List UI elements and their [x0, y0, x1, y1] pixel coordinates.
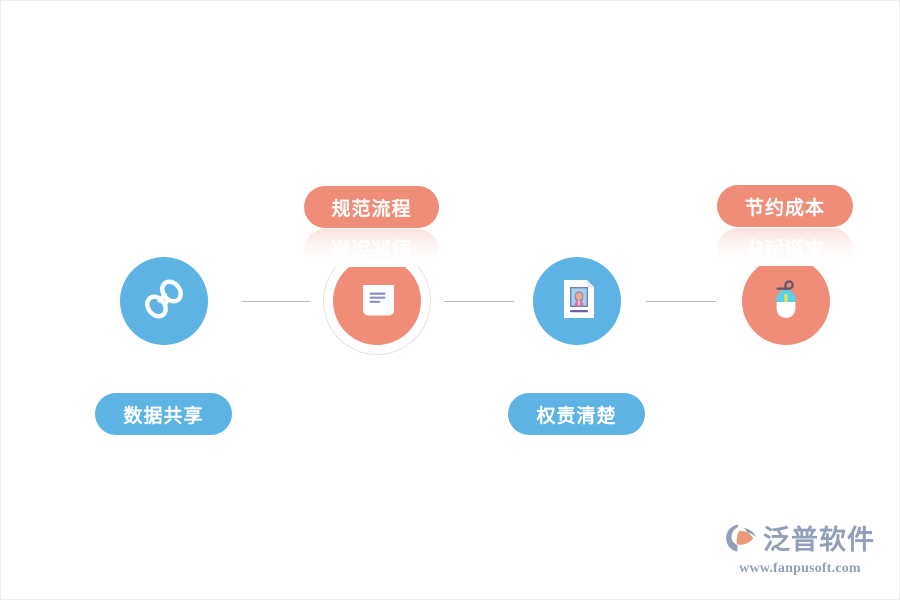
label-wrap-standard-process: 规范流程 规范流程: [304, 186, 439, 267]
reflection-fade-overlay-2: [717, 228, 853, 266]
label-pill-cost-saving[interactable]: 节约成本: [717, 185, 853, 227]
diagram-canvas: 数据共享 规范流程 规范流程: [0, 0, 900, 600]
reflection-fade-overlay: [304, 229, 439, 267]
watermark-url: www.fanpusoft.com: [739, 561, 861, 577]
watermark-brand-row: 泛普软件: [725, 523, 875, 558]
label-pill-standard-process[interactable]: 规范流程: [304, 186, 439, 228]
label-text-data-sharing: 数据共享: [123, 401, 203, 428]
chain-link-icon: [138, 273, 190, 330]
node-circle-clear-responsibility[interactable]: [533, 257, 621, 345]
fanpu-brand-mark-icon: [725, 523, 759, 558]
connector-line-1: [242, 301, 310, 302]
label-text-clear-responsibility: 权责清楚: [536, 401, 616, 428]
connector-line-3: [646, 301, 716, 302]
label-pill-data-sharing[interactable]: 数据共享: [95, 393, 232, 435]
label-wrap-cost-saving: 节约成本 节约成本: [717, 185, 853, 266]
label-reflection-standard-process: 规范流程: [304, 229, 439, 267]
label-pill-clear-responsibility[interactable]: 权责清楚: [508, 393, 645, 435]
connector-line-2: [444, 301, 514, 302]
label-reflection-cost-saving: 节约成本: [717, 228, 853, 266]
node-circle-cost-saving[interactable]: [742, 257, 830, 345]
watermark-brand-text: 泛普软件: [763, 527, 875, 554]
node-circle-data-sharing[interactable]: [120, 257, 208, 345]
label-text-standard-process: 规范流程: [331, 194, 411, 221]
computer-mouse-icon: [761, 272, 811, 331]
id-card-icon: [552, 273, 602, 330]
node-circle-standard-process[interactable]: [333, 257, 421, 345]
watermark: 泛普软件 www.fanpusoft.com: [725, 523, 875, 577]
label-text-cost-saving: 节约成本: [745, 193, 825, 220]
scroll-document-icon: [352, 274, 402, 329]
